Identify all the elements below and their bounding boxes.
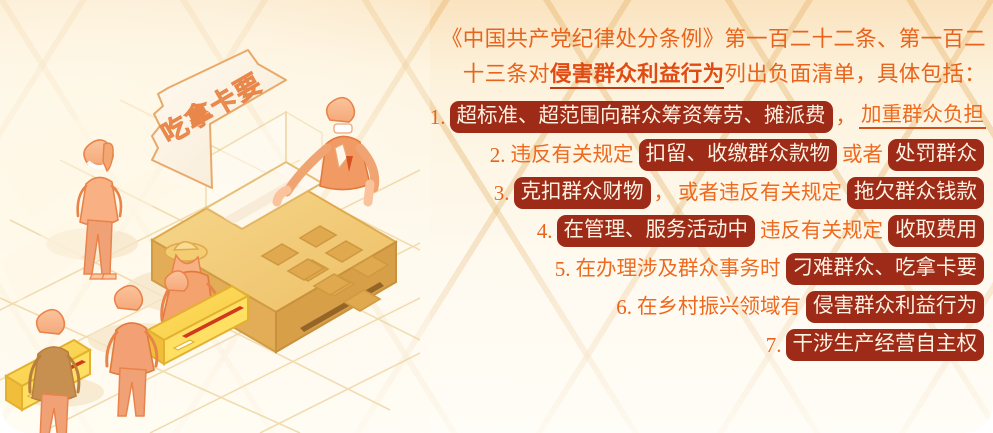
list-item-number: 1. <box>430 105 446 130</box>
highlight-pill: 超标准、超范围向群众筹资筹劳、摊派费 <box>450 101 833 134</box>
list-item-number: 4. <box>537 219 553 244</box>
list-item: 1.超标准、超范围向群众筹资筹劳、摊派费，加重群众负担 <box>408 98 986 136</box>
illustration-pos-machine-scene: 吃拿卡要 <box>0 40 420 433</box>
plain-phrase: 在乡村振兴领域有 <box>634 297 804 318</box>
plain-phrase: 违反有关规定 <box>508 145 637 166</box>
highlight-pill: 刁难群众、吃拿卡要 <box>786 253 985 286</box>
poster-root: 吃拿卡要 <box>0 0 993 433</box>
plain-phrase: 或者 <box>839 145 886 166</box>
list-item: 2.违反有关规定扣留、收缴群众款物或者处罚群众 <box>408 136 986 174</box>
list-item-number: 5. <box>555 257 571 282</box>
plain-phrase: 违反有关规定 <box>757 221 886 242</box>
person-carrying-card-2 <box>30 310 79 433</box>
plain-phrase: 在办理涉及群众事务时 <box>573 259 784 280</box>
headline-block: 《中国共产党纪律处分条例》第一百二十二条、第一百二 十三条对侵害群众利益行为列出… <box>408 22 986 92</box>
headline-suffix: 列出负面清单，具体包括： <box>724 62 986 86</box>
highlight-pill: 克扣群众财物 <box>514 177 651 210</box>
list-item: 6.在乡村振兴领域有侵害群众利益行为 <box>408 288 986 326</box>
highlight-pill: 处罚群众 <box>888 139 984 172</box>
highlight-pill: 拖欠群众钱款 <box>847 177 984 210</box>
plain-phrase: ， <box>653 183 676 204</box>
list-item: 5.在办理涉及群众事务时刁难群众、吃拿卡要 <box>408 250 986 288</box>
negative-list: 1.超标准、超范围向群众筹资筹劳、摊派费，加重群众负担2.违反有关规定扣留、收缴… <box>408 98 986 364</box>
highlight-pill: 侵害群众利益行为 <box>806 291 984 324</box>
highlight-pill: 扣留、收缴群众款物 <box>639 139 838 172</box>
plain-phrase: ， <box>835 107 858 128</box>
highlight-pill: 在管理、服务活动中 <box>557 215 756 248</box>
text-content-column: 《中国共产党纪律处分条例》第一百二十二条、第一百二 十三条对侵害群众利益行为列出… <box>408 22 986 422</box>
headline-line-1: 《中国共产党纪律处分条例》第一百二十二条、第一百二 <box>408 22 986 57</box>
list-item-number: 2. <box>490 143 506 168</box>
list-item-number: 7. <box>766 333 782 358</box>
plain-phrase: 或者违反有关规定 <box>675 183 845 204</box>
list-item: 3.克扣群众财物，或者违反有关规定拖欠群众钱款 <box>408 174 986 212</box>
headline-emphasis: 侵害群众利益行为 <box>550 62 724 89</box>
list-item: 4.在管理、服务活动中违反有关规定收取费用 <box>408 212 986 250</box>
headline-line-2: 十三条对侵害群众利益行为列出负面清单，具体包括： <box>408 57 986 92</box>
headline-prefix: 十三条对 <box>463 62 550 86</box>
highlight-pill: 干涉生产经营自主权 <box>786 329 985 362</box>
underlined-phrase: 加重群众负担 <box>859 105 986 130</box>
list-item: 7.干涉生产经营自主权 <box>408 326 986 364</box>
list-item-number: 6. <box>616 295 632 320</box>
list-item-number: 3. <box>494 181 510 206</box>
highlight-pill: 收取费用 <box>888 215 984 248</box>
